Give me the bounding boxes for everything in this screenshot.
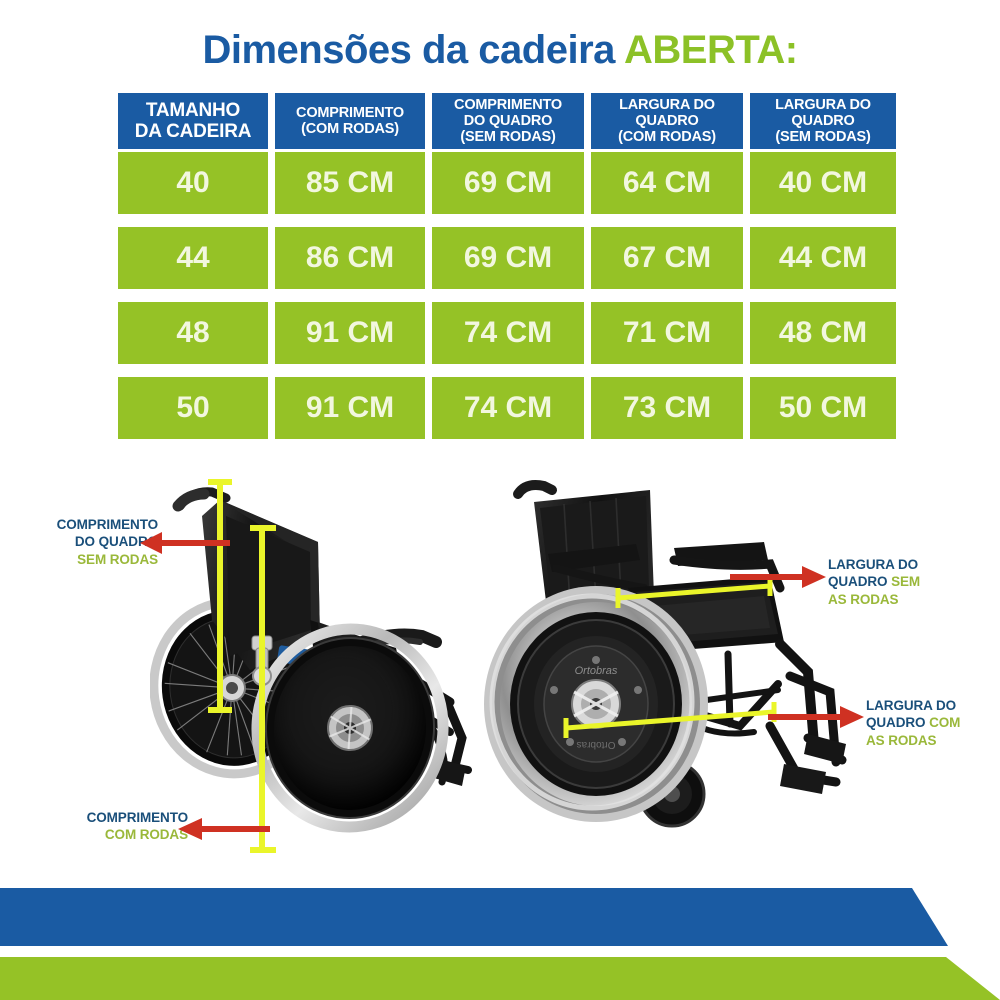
header-line-3: (COM RODAS) (618, 129, 716, 145)
table-cell-size: 48 (118, 302, 268, 364)
table-cell-frame-width-no-wheels: 44 CM (750, 227, 896, 289)
table-cell-frame-width-with-wheels: 64 CM (591, 152, 743, 214)
header-line-3: (SEM RODAS) (460, 129, 555, 145)
table-cell-frame-length-no-wheels: 74 CM (432, 302, 584, 364)
table-cell-length-with-wheels: 91 CM (275, 302, 425, 364)
table-cell-frame-width-no-wheels: 50 CM (750, 377, 896, 439)
svg-text:Ortobras: Ortobras (575, 665, 618, 677)
table-cell-length-with-wheels: 91 CM (275, 377, 425, 439)
header-line-3: (SEM RODAS) (775, 129, 870, 145)
page-title-green: ABERTA: (624, 28, 798, 72)
table-row: 48 91 CM 74 CM 71 CM 48 CM (118, 302, 882, 377)
table-header-cell-size: TAMANHO DA CADEIRA (118, 93, 268, 149)
table-cell-frame-length-no-wheels: 74 CM (432, 377, 584, 439)
bottom-bar-green (0, 957, 1000, 1000)
header-line-1: COMPRIMENTO (454, 97, 562, 113)
table-cell-length-with-wheels: 85 CM (275, 152, 425, 214)
callout-length-with-wheels: COMPRIMENTO COM RODAS (48, 809, 188, 844)
table-cell-size: 40 (118, 152, 268, 214)
table-header-cell-length-with-wheels: COMPRIMENTO (COM RODAS) (275, 93, 425, 149)
callout-line-1: COMPRIMENTO (87, 810, 188, 825)
callout-frame-width-no-wheels: LARGURA DO QUADRO SEM AS RODAS (828, 556, 988, 608)
svg-text:Ortobras: Ortobras (577, 739, 616, 750)
header-line-2: DA CADEIRA (135, 121, 252, 142)
table-row: 44 86 CM 69 CM 67 CM 44 CM (118, 227, 882, 302)
table-cell-frame-length-no-wheels: 69 CM (432, 227, 584, 289)
arrow-right-upper-icon (730, 562, 826, 596)
header-line-2: DO QUADRO (464, 113, 552, 129)
callout-line-2b: COM (929, 715, 960, 730)
arrow-left-lower-icon (178, 814, 270, 848)
page-title-blue: Dimensões da cadeira (202, 28, 624, 72)
callout-line-1: LARGURA DO (828, 557, 918, 572)
table-header-cell-frame-width-with-wheels: LARGURA DO QUADRO (COM RODAS) (591, 93, 743, 149)
table-body: 40 85 CM 69 CM 64 CM 40 CM 44 86 CM 69 C… (118, 152, 882, 452)
header-line-2: QUADRO (791, 113, 854, 129)
table-cell-frame-length-no-wheels: 69 CM (432, 152, 584, 214)
header-line-1: LARGURA DO (619, 97, 715, 113)
callout-line-2: COM RODAS (105, 827, 188, 842)
header-line-2: QUADRO (635, 113, 698, 129)
table-row: 50 91 CM 74 CM 73 CM 50 CM (118, 377, 882, 452)
table-cell-size: 44 (118, 227, 268, 289)
header-line-1: COMPRIMENTO (296, 105, 404, 121)
dimensions-table: TAMANHO DA CADEIRA COMPRIMENTO (COM RODA… (118, 93, 882, 452)
table-header-cell-frame-length-no-wheels: COMPRIMENTO DO QUADRO (SEM RODAS) (432, 93, 584, 149)
table-cell-length-with-wheels: 86 CM (275, 227, 425, 289)
table-cell-frame-width-with-wheels: 71 CM (591, 302, 743, 364)
header-line-1: TAMANHO (146, 100, 240, 121)
callout-line-2b: SEM (891, 574, 920, 589)
callout-line-3: AS RODAS (828, 592, 898, 607)
table-cell-size: 50 (118, 377, 268, 439)
arrow-left-upper-icon (140, 528, 230, 562)
table-row: 40 85 CM 69 CM 64 CM 40 CM (118, 152, 882, 227)
callout-frame-width-with-wheels: LARGURA DO QUADRO COM AS RODAS (866, 697, 994, 749)
header-line-2: (COM RODAS) (301, 121, 399, 137)
bottom-bar-blue (0, 888, 1000, 946)
infographic-page: Dimensões da cadeira ABERTA: TAMANHO DA … (0, 0, 1000, 1000)
callout-line-1: LARGURA DO (866, 698, 956, 713)
table-cell-frame-width-with-wheels: 67 CM (591, 227, 743, 289)
table-cell-frame-width-with-wheels: 73 CM (591, 377, 743, 439)
header-line-1: LARGURA DO (775, 97, 871, 113)
wheelchair-front-view-image: Ortobras Ortobras (478, 476, 878, 856)
table-cell-frame-width-no-wheels: 48 CM (750, 302, 896, 364)
table-header-cell-frame-width-no-wheels: LARGURA DO QUADRO (SEM RODAS) (750, 93, 896, 149)
callout-line-2a: QUADRO (828, 574, 891, 589)
callout-line-2a: QUADRO (866, 715, 929, 730)
page-title: Dimensões da cadeira ABERTA: (0, 28, 1000, 73)
arrow-right-lower-icon (768, 702, 864, 736)
callout-frame-length-no-wheels: COMPRIMENTO DO QUADRO SEM RODAS (8, 516, 158, 568)
callout-line-3: AS RODAS (866, 733, 936, 748)
table-header-row: TAMANHO DA CADEIRA COMPRIMENTO (COM RODA… (118, 93, 882, 152)
table-cell-frame-width-no-wheels: 40 CM (750, 152, 896, 214)
